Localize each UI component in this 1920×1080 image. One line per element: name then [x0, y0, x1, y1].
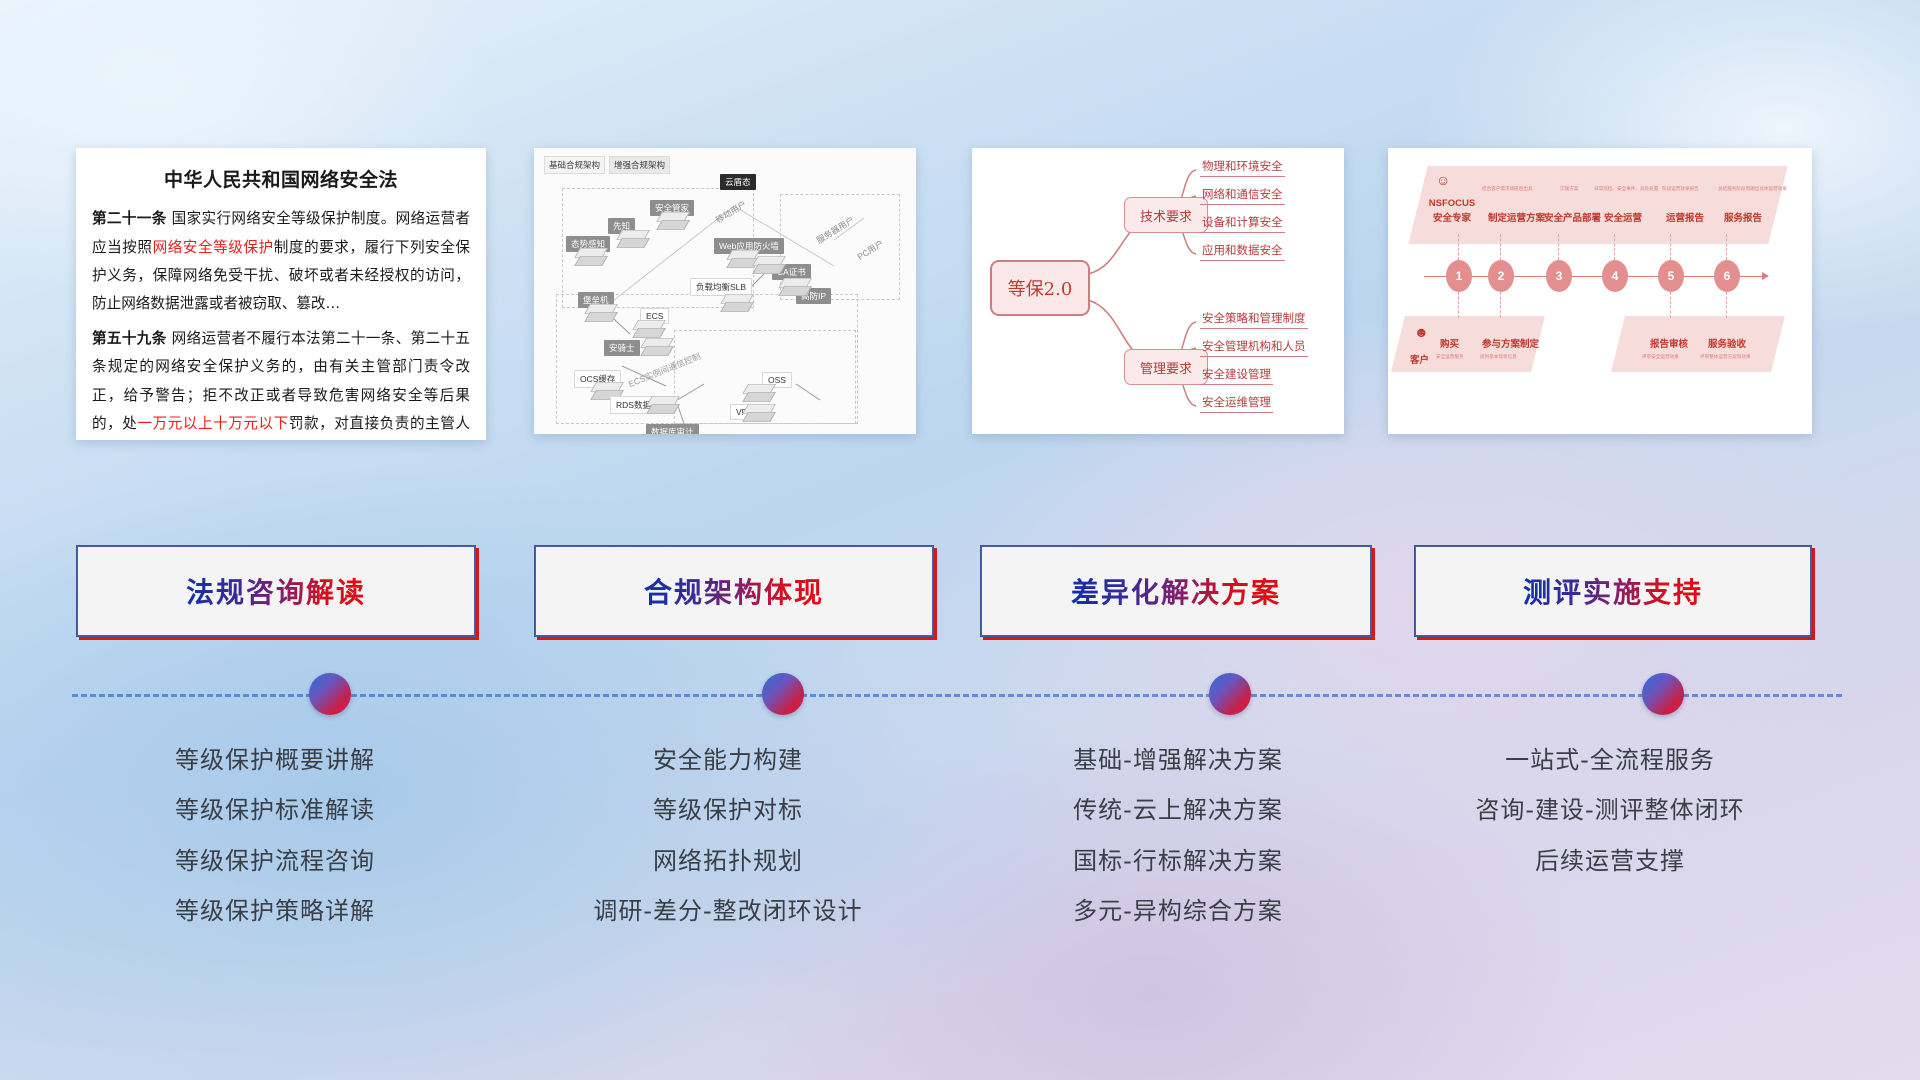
law-article-59: 第五十九条 网络运营者不履行本法第二十一条、第二十五条规定的网络安全保护义务的，… [92, 325, 470, 440]
article-21-highlight: 网络安全等级保护 [153, 239, 274, 256]
cube-situational-awareness [580, 248, 614, 270]
step-dot-4[interactable]: 4 [1602, 260, 1628, 292]
cube-vpc [748, 404, 782, 426]
list-item: 基础-增强解决方案 [978, 735, 1378, 785]
list-item: 国标-行标解决方案 [978, 836, 1378, 886]
tick-5 [1670, 234, 1672, 260]
tick-3 [1558, 234, 1560, 260]
mindmap-leaf-construction: 安全建设管理 [1200, 366, 1273, 385]
bottom-step-4-title: 服务验收 [1708, 336, 1746, 350]
mindmap-leaf-physical-env: 物理和环境安全 [1200, 158, 1285, 177]
tick-6-down [1726, 292, 1728, 318]
slide-stage: 中华人民共和国网络安全法 第二十一条 国家实行网络安全等级保护制度。网络运营者应… [0, 0, 1920, 1080]
mindmap-branch-management[interactable]: 管理要求 [1124, 349, 1208, 385]
top-step-5-title: 服务报告 [1724, 210, 1762, 224]
tick-2 [1500, 234, 1502, 260]
top-step-1-sub: 结合客户需求调研后出具 [1482, 186, 1533, 192]
list-item: 等级保护策略详解 [76, 886, 474, 936]
law-title: 中华人民共和国网络安全法 [92, 162, 470, 199]
bottom-step-2-title: 参与方案制定 [1482, 336, 1539, 350]
cube-oss [748, 384, 782, 406]
section-title-1: 法规咨询解读 [186, 571, 366, 611]
list-item: 多元-异构综合方案 [978, 886, 1378, 936]
timeline-node-1[interactable] [309, 673, 351, 715]
architecture-diagram: 基础合规架构 增强合规架构 云盾态 [534, 148, 916, 434]
section-title-box-4[interactable]: 测评实施支持 [1414, 545, 1812, 637]
step-dot-6[interactable]: 6 [1714, 260, 1740, 292]
mindmap-leaf-operations: 安全运维管理 [1200, 394, 1273, 413]
section-items-4: 一站式-全流程服务 咨询-建设-测评整体闭环 后续运营支撑 [1400, 735, 1820, 886]
card-nsfocus-timeline[interactable]: ☺ NSFOCUS 安全专家 结合客户需求调研后出具 制定运营方案 实施方案 安… [1388, 148, 1812, 434]
step-dot-1[interactable]: 1 [1446, 260, 1472, 292]
node-anqishi: 安骑士 [604, 340, 640, 356]
card-cloud-architecture[interactable]: 基础合规架构 增强合规架构 云盾态 [534, 148, 916, 434]
tick-1-down [1458, 292, 1460, 318]
mindmap-root-node[interactable]: 等保2.0 [990, 260, 1090, 316]
cube-xianzhi [622, 230, 656, 252]
list-item: 咨询-建设-测评整体闭环 [1400, 785, 1820, 835]
mindmap-leaf-network-comm: 网络和通信安全 [1200, 186, 1285, 205]
bottom-step-3-sub: 评审安全运营效果 [1642, 354, 1679, 360]
cube-ecs [638, 320, 672, 342]
mindmap-leaf-policy-system: 安全策略和管理制度 [1200, 310, 1308, 329]
mindmap-canvas: 等保2.0 技术要求 物理和环境安全 网络和通信安全 设备和计算安全 应用和数据… [972, 148, 1344, 434]
mindmap-leaf-app-data: 应用和数据安全 [1200, 242, 1285, 261]
top-step-3-sub: 日常巡检、安全事件、高危处置 [1594, 186, 1658, 192]
timeline-node-4[interactable] [1642, 673, 1684, 715]
tick-6 [1726, 234, 1728, 260]
list-item: 传统-云上解决方案 [978, 785, 1378, 835]
law-article-21: 第二十一条 国家实行网络安全等级保护制度。网络运营者应当按照网络安全等级保护制度… [92, 205, 470, 319]
tick-5-down [1670, 292, 1672, 318]
tick-4 [1614, 234, 1616, 260]
node-cloud-shield: 云盾态 [720, 174, 756, 190]
top-step-5-sub: 总结服务阶段周期出总体运营效果 [1718, 186, 1787, 192]
node-db-audit: 数据库审计 [646, 424, 699, 434]
bottom-step-1-sub: 安全运营服务 [1436, 354, 1464, 360]
tick-1 [1458, 234, 1460, 260]
step-dot-5[interactable]: 5 [1658, 260, 1684, 292]
section-title-box-3[interactable]: 差异化解决方案 [980, 545, 1372, 637]
expert-brand-label: NSFOCUS [1424, 198, 1480, 209]
list-item: 调研-差分-整改闭环设计 [508, 886, 948, 936]
customer-person-icon: ☻ [1414, 324, 1429, 340]
list-item: 后续运营支撑 [1400, 836, 1820, 886]
bottom-step-1-title: 购买 [1440, 336, 1459, 350]
nsfocus-process-diagram: ☺ NSFOCUS 安全专家 结合客户需求调研后出具 制定运营方案 实施方案 安… [1388, 148, 1812, 434]
law-text-body: 中华人民共和国网络安全法 第二十一条 国家实行网络安全等级保护制度。网络运营者应… [76, 148, 486, 440]
top-step-3-title: 安全运营 [1604, 210, 1642, 224]
step-dot-3[interactable]: 3 [1546, 260, 1572, 292]
mindmap-branch-technical[interactable]: 技术要求 [1124, 197, 1208, 233]
section-title-3: 差异化解决方案 [1071, 571, 1281, 611]
section-items-2: 安全能力构建 等级保护对标 网络拓扑规划 调研-差分-整改闭环设计 [508, 735, 948, 937]
bottom-step-3-title: 报告审核 [1650, 336, 1688, 350]
section-title-row: 法规咨询解读 合规架构体现 差异化解决方案 测评实施支持 [0, 545, 1920, 641]
article-59-label: 第五十九条 [92, 330, 167, 347]
top-step-4-title: 运营报告 [1666, 210, 1704, 224]
step-dot-2[interactable]: 2 [1488, 260, 1514, 292]
section-title-box-2[interactable]: 合规架构体现 [534, 545, 934, 637]
bottom-step-2-sub: 提供基本现状信息 [1480, 354, 1517, 360]
cube-rds-db [652, 396, 686, 418]
list-item: 等级保护标准解读 [76, 785, 474, 835]
list-item: 一站式-全流程服务 [1400, 735, 1820, 785]
card-mind-map[interactable]: 等保2.0 技术要求 物理和环境安全 网络和通信安全 设备和计算安全 应用和数据… [972, 148, 1344, 434]
top-step-1-title: 制定运营方案 [1488, 210, 1545, 224]
section-title-4: 测评实施支持 [1523, 571, 1703, 611]
cube-slb [726, 294, 760, 316]
timeline-axis [1424, 276, 1762, 277]
section-items-1: 等级保护概要讲解 等级保护标准解读 等级保护流程咨询 等级保护策略详解 [76, 735, 474, 937]
list-item: 等级保护流程咨询 [76, 836, 474, 886]
mindmap-leaf-org-personnel: 安全管理机构和人员 [1200, 338, 1308, 357]
bottom-step-4-sub: 评审整体运营方案和效果 [1700, 354, 1751, 360]
cube-bastion-host [590, 304, 624, 326]
top-step-4-sub: 阶段运营效果报告 [1662, 186, 1699, 192]
timeline-node-2[interactable] [762, 673, 804, 715]
list-item: 等级保护对标 [508, 785, 948, 835]
card-cybersecurity-law[interactable]: 中华人民共和国网络安全法 第二十一条 国家实行网络安全等级保护制度。网络运营者应… [76, 148, 486, 440]
list-item: 网络拓扑规划 [508, 836, 948, 886]
article-21-label: 第二十一条 [92, 210, 167, 227]
timeline-node-3[interactable] [1209, 673, 1251, 715]
top-step-2-sub: 实施方案 [1560, 186, 1578, 192]
list-item: 安全能力构建 [508, 735, 948, 785]
connector-timeline [72, 693, 1842, 697]
tick-2-down [1500, 292, 1502, 318]
cube-ca-cert [758, 256, 792, 278]
article-59-highlight-a: 一万元以上十万元以下 [137, 415, 288, 432]
list-item: 等级保护概要讲解 [76, 735, 474, 785]
band-customer-row-right [1611, 316, 1785, 372]
expert-role-label: 安全专家 [1424, 210, 1480, 224]
cube-security-butler [662, 212, 696, 234]
timeline-arrow-icon [1762, 272, 1769, 280]
top-step-2-title: 安全产品部署 [1544, 210, 1601, 224]
expert-person-icon: ☺ [1436, 172, 1450, 188]
cube-anti-ddos-ip [784, 278, 818, 300]
mindmap-leaf-device-compute: 设备和计算安全 [1200, 214, 1285, 233]
section-title-2: 合规架构体现 [644, 571, 824, 611]
customer-role-label: 客户 [1410, 352, 1429, 366]
section-items-3: 基础-增强解决方案 传统-云上解决方案 国标-行标解决方案 多元-异构综合方案 [978, 735, 1378, 937]
section-title-box-1[interactable]: 法规咨询解读 [76, 545, 476, 637]
top-cards-row: 中华人民共和国网络安全法 第二十一条 国家实行网络安全等级保护制度。网络运营者应… [0, 148, 1920, 442]
